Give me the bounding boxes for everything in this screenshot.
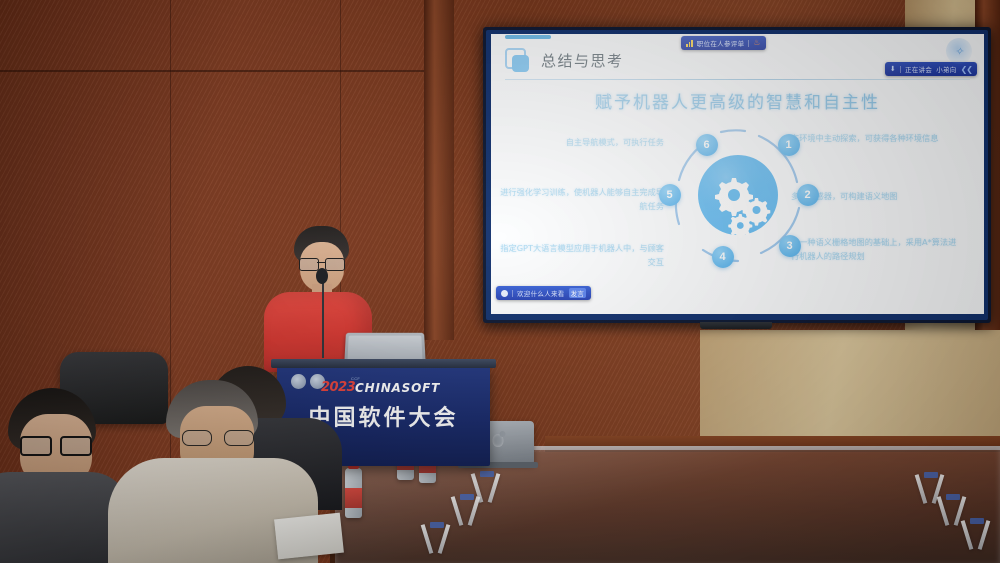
chevron-icon[interactable]: ❮❮: [961, 65, 972, 74]
beige-wall-lower: [700, 330, 1000, 452]
name-card: [962, 520, 992, 550]
hot-icon: ♨: [753, 39, 760, 47]
glasses-icon: [182, 430, 254, 444]
header-accent-bar: [505, 35, 551, 39]
slide-section-label: 总结与思考: [541, 50, 624, 71]
rounded-square-icon: [505, 48, 530, 73]
bottom-badge-label: 欢迎什么人来看: [517, 288, 565, 298]
display-screen: 总结与思考 赋予机器人更高级的智慧和自主性 自主导航模式，可执行任务 进行强化学…: [491, 34, 984, 314]
apple-logo-icon: [493, 434, 504, 447]
diagram-label-4: 指定GPT大语言模型应用于机器人中，与顾客交互: [496, 242, 664, 269]
bar-chart-icon: [686, 40, 693, 47]
bottom-badge-highlight: 发言: [569, 288, 587, 298]
water-bottle: [345, 468, 362, 518]
slide-canvas: 总结与思考 赋予机器人更高级的智慧和自主性 自主导航模式，可执行任务 进行强化学…: [491, 34, 984, 314]
dot-icon: [501, 290, 508, 297]
top-badge-label: 职位在人参评单: [697, 38, 745, 48]
diagram-node-5: 5: [659, 184, 681, 206]
livestream-top-badge[interactable]: 职位在人参评单 ♨: [681, 36, 766, 50]
podium-brand: CHINASOFT: [355, 381, 440, 395]
diagram-label-1: 在环境中主动探索，可获得各种环境信息: [791, 132, 959, 146]
header-divider: [505, 79, 970, 80]
livestream-bottom-badge[interactable]: 欢迎什么人来看 发言: [496, 286, 591, 300]
attendee-1: [0, 388, 120, 563]
microphone-icon: [316, 268, 328, 284]
livestream-right-badge[interactable]: ⬇ 正在讲会 小弟向 ❮❮: [885, 62, 977, 76]
diagram-node-3: 3: [779, 235, 801, 257]
right-badge-label: 正在讲会: [905, 64, 932, 74]
diagram-label-5: 进行强化学习训练，使机器人能够自主完成导航任务: [496, 186, 664, 213]
name-card: [422, 524, 452, 554]
wall-seam: [0, 70, 430, 72]
display-stand: [700, 322, 772, 329]
download-arrow-icon: ⬇: [890, 65, 896, 73]
process-ring: 1 2 3 4 5 6: [663, 120, 813, 270]
diagram-node-1: 1: [778, 134, 800, 156]
diagram-label-3: 在一种语义栅格地图的基础上，采用A*算法进行机器人的路径规划: [791, 236, 959, 263]
right-badge-secondary: 小弟向: [936, 64, 956, 74]
name-card: [452, 496, 482, 526]
paper-documents: [274, 513, 344, 560]
microphone-stem: [322, 276, 324, 358]
presentation-display: 总结与思考 赋予机器人更高级的智慧和自主性 自主导航模式，可执行任务 进行强化学…: [483, 27, 991, 323]
diagram-node-6: 6: [696, 134, 718, 156]
circular-process-diagram: 自主导航模式，可执行任务 进行强化学习训练，使机器人能够自主完成导航任务 指定G…: [491, 114, 984, 284]
diagram-node-4: 4: [712, 246, 734, 268]
slide-title: 赋予机器人更高级的智慧和自主性: [491, 88, 984, 113]
wall-pillar: [424, 0, 454, 340]
screenshot-stage: 总结与思考 赋予机器人更高级的智慧和自主性 自主导航模式，可执行任务 进行强化学…: [0, 0, 1000, 563]
logo-watermark-icon: ✧: [946, 38, 972, 64]
diagram-label-6: 自主导航模式，可执行任务: [496, 136, 664, 150]
diagram-node-2: 2: [797, 184, 819, 206]
glasses-icon: [20, 436, 90, 452]
